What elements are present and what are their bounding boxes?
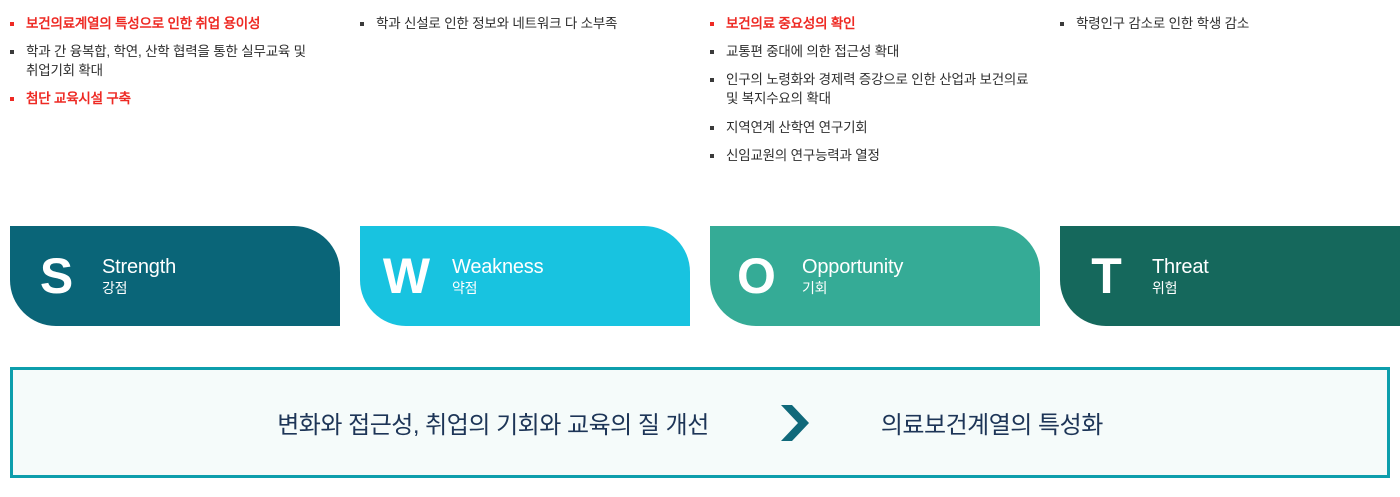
conclusion-left-text: 변화와 접근성, 취업의 기회와 교육의 질 개선	[277, 405, 709, 440]
list-item: 지역연계 산학연 연구기회	[710, 118, 1036, 137]
swot-card-threat: T Threat 위험	[1060, 226, 1400, 326]
square-bullet-icon	[10, 22, 14, 26]
list-item-label: 신임교원의 연구능력과 열정	[726, 146, 1036, 165]
swot-title-english: Weakness	[452, 256, 543, 278]
list-item: 인구의 노령화와 경제력 증강으로 인한 산업과 보건의료 및 복지수요의 확대	[710, 70, 1036, 108]
swot-title-english: Strength	[102, 256, 176, 278]
swot-letter-t: T	[1060, 251, 1152, 301]
list-item: 교통편 중대에 의한 접근성 확대	[710, 42, 1036, 61]
swot-card-weakness: W Weakness 약점	[360, 226, 690, 326]
list-item: 보건의료계열의 특성으로 인한 취업 용이성	[10, 14, 336, 33]
swot-letter-o: O	[710, 251, 802, 301]
list-item-label: 학과 신설로 인한 정보와 네트워크 다 소부족	[376, 14, 686, 33]
conclusion-banner: 변화와 접근성, 취업의 기회와 교육의 질 개선 의료보건계열의 특성화	[10, 367, 1390, 478]
list-item: 첨단 교육시설 구축	[10, 89, 336, 108]
square-bullet-icon	[710, 50, 714, 54]
list-item-label: 인구의 노령화와 경제력 증강으로 인한 산업과 보건의료 및 복지수요의 확대	[726, 70, 1036, 108]
swot-labels: Threat 위험	[1152, 256, 1209, 296]
strength-points-column: 보건의료계열의 특성으로 인한 취업 용이성 학과 간 융복합, 학연, 산학 …	[0, 0, 350, 210]
swot-title-korean: 위험	[1152, 281, 1209, 296]
square-bullet-icon	[10, 97, 14, 101]
threat-points-column: 학령인구 감소로 인한 학생 감소	[1050, 0, 1400, 210]
swot-title-english: Threat	[1152, 256, 1209, 278]
list-item: 보건의료 중요성의 확인	[710, 14, 1036, 33]
swot-labels: Strength 강점	[102, 256, 176, 296]
swot-title-korean: 약점	[452, 281, 543, 296]
list-item-label: 교통편 중대에 의한 접근성 확대	[726, 42, 1036, 61]
chevron-right-icon	[775, 402, 815, 444]
swot-banner-row: S Strength 강점 W Weakness 약점 O Opportunit…	[0, 226, 1400, 326]
square-bullet-icon	[360, 22, 364, 26]
list-item-label: 지역연계 산학연 연구기회	[726, 118, 1036, 137]
swot-title-english: Opportunity	[802, 256, 903, 278]
swot-labels: Opportunity 기회	[802, 256, 903, 296]
weakness-points-column: 학과 신설로 인한 정보와 네트워크 다 소부족	[350, 0, 700, 210]
swot-labels: Weakness 약점	[452, 256, 543, 296]
square-bullet-icon	[10, 50, 14, 54]
conclusion-content: 변화와 접근성, 취업의 기회와 교육의 질 개선 의료보건계열의 특성화	[277, 402, 1103, 444]
swot-letter-s: S	[10, 251, 102, 301]
list-item-label: 학과 간 융복합, 학연, 산학 협력을 통한 실무교육 및 취업기회 확대	[26, 42, 336, 80]
list-item: 학과 신설로 인한 정보와 네트워크 다 소부족	[360, 14, 686, 33]
list-item-label: 학령인구 감소로 인한 학생 감소	[1076, 14, 1386, 33]
list-item-label: 보건의료계열의 특성으로 인한 취업 용이성	[26, 14, 336, 33]
opportunity-points-column: 보건의료 중요성의 확인 교통편 중대에 의한 접근성 확대 인구의 노령화와 …	[700, 0, 1050, 210]
swot-letter-w: W	[360, 251, 452, 301]
swot-title-korean: 기회	[802, 281, 903, 296]
swot-card-strength: S Strength 강점	[10, 226, 340, 326]
square-bullet-icon	[710, 78, 714, 82]
list-item: 신임교원의 연구능력과 열정	[710, 146, 1036, 165]
square-bullet-icon	[710, 154, 714, 158]
list-item: 학과 간 융복합, 학연, 산학 협력을 통한 실무교육 및 취업기회 확대	[10, 42, 336, 80]
swot-card-opportunity: O Opportunity 기회	[710, 226, 1040, 326]
swot-title-korean: 강점	[102, 281, 176, 296]
list-item-label: 첨단 교육시설 구축	[26, 89, 336, 108]
list-item-label: 보건의료 중요성의 확인	[726, 14, 1036, 33]
square-bullet-icon	[1060, 22, 1064, 26]
square-bullet-icon	[710, 126, 714, 130]
conclusion-right-text: 의료보건계열의 특성화	[881, 405, 1103, 440]
square-bullet-icon	[710, 22, 714, 26]
swot-points-grid: 보건의료계열의 특성으로 인한 취업 용이성 학과 간 융복합, 학연, 산학 …	[0, 0, 1400, 210]
list-item: 학령인구 감소로 인한 학생 감소	[1060, 14, 1386, 33]
